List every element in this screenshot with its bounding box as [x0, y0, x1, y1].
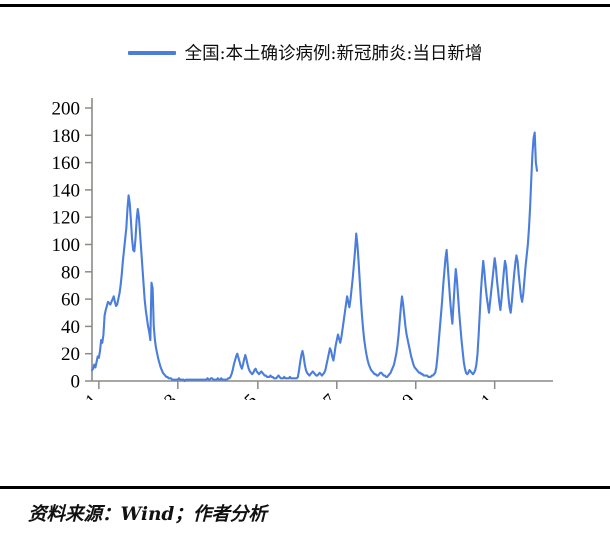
x-axis: 2021-012021-032021-052021-072021-092021-… — [45, 381, 553, 400]
source-note: 资料来源：Wind；作者分析 — [28, 500, 267, 526]
bottom-divider-rule — [0, 486, 610, 489]
series-line-path — [92, 133, 537, 381]
y-axis: 020406080100120140160180200 — [52, 98, 93, 393]
figure-container: 全国:本土确诊病例:新冠肺炎:当日新增 02040608010012014016… — [0, 0, 610, 536]
y-axis-tick-label: 180 — [52, 126, 81, 147]
line-chart-svg: 020406080100120140160180200 2021-012021-… — [0, 90, 610, 400]
legend-line-swatch — [128, 51, 176, 55]
y-axis-tick-label: 40 — [61, 317, 80, 338]
top-divider-rule — [0, 4, 610, 7]
y-axis-tick-label: 0 — [71, 372, 81, 393]
plot-area: 020406080100120140160180200 2021-012021-… — [0, 90, 610, 400]
y-axis-tick-label: 100 — [52, 235, 81, 256]
y-axis-tick-label: 60 — [61, 290, 80, 311]
y-axis-tick-label: 120 — [52, 208, 81, 229]
x-axis-tick-label: 2021-07 — [283, 390, 340, 400]
y-axis-tick-label: 160 — [52, 153, 81, 174]
chart-legend: 全国:本土确诊病例:新冠肺炎:当日新增 — [0, 40, 610, 65]
y-axis-tick-label: 20 — [61, 344, 80, 365]
x-axis-tick-label: 2021-09 — [362, 390, 419, 400]
x-axis-tick-label: 2021-03 — [124, 390, 181, 400]
legend-series-label: 全国:本土确诊病例:新冠肺炎:当日新增 — [185, 40, 483, 65]
y-axis-tick-label: 80 — [61, 262, 80, 283]
x-axis-tick-label: 2021-05 — [204, 390, 261, 400]
data-series — [92, 133, 537, 381]
y-axis-tick-label: 200 — [52, 99, 81, 120]
x-axis-tick-label: 2021-11 — [441, 390, 497, 400]
y-axis-tick-label: 140 — [52, 180, 81, 201]
